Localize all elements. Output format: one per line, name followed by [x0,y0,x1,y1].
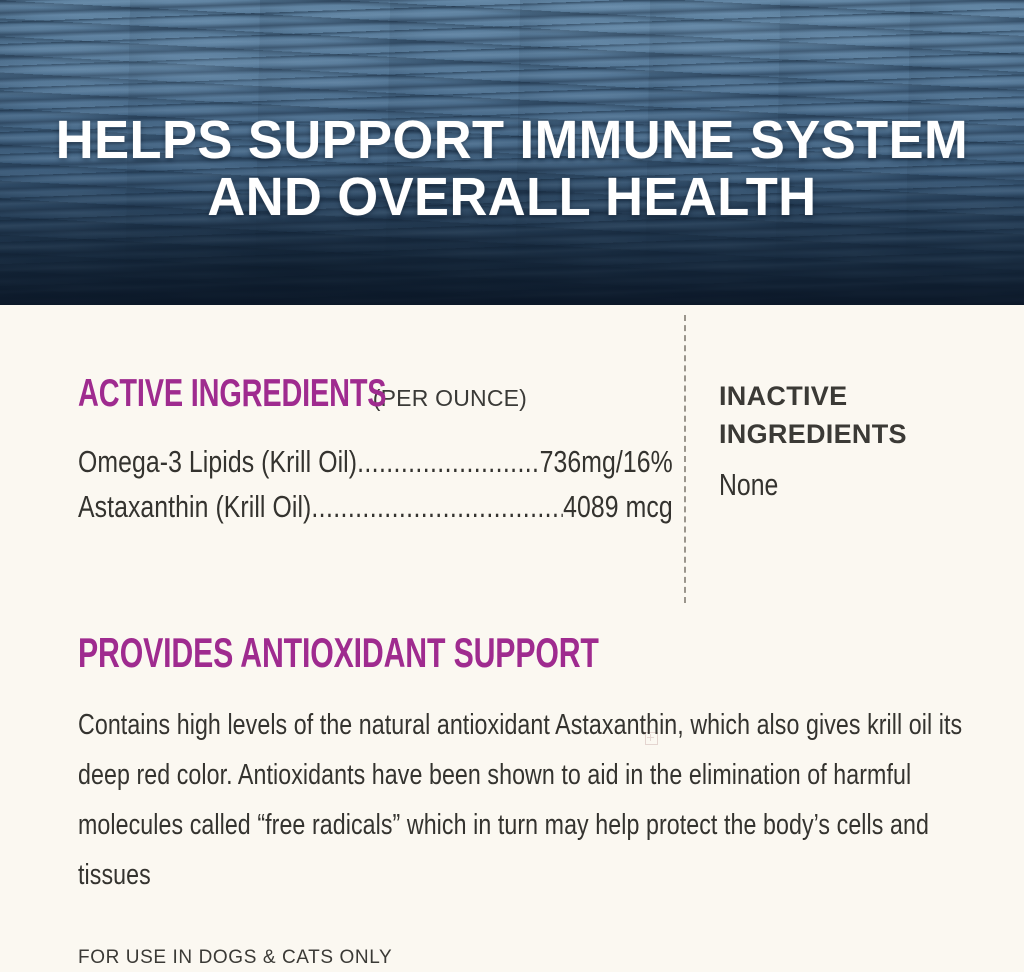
ingredient-row: Omega-3 Lipids (Krill Oil) .............… [78,439,673,484]
ingredient-row: Astaxanthin (Krill Oil) ................… [78,484,673,529]
antioxidant-support-body: Contains high levels of the natural anti… [78,700,978,900]
species-use-footnote: FOR USE IN DOGS & CATS ONLY [78,947,392,969]
hero-title: HELPS SUPPORT IMMUNE SYSTEM AND OVERALL … [15,112,1008,226]
ingredient-leader-dots: .................................... [311,484,563,529]
inactive-ingredients-heading: INACTIVE INGREDIENTS [719,377,979,453]
ingredient-amount: 4089 mcg [563,484,673,529]
active-ingredients-list: Omega-3 Lipids (Krill Oil) .............… [78,439,668,529]
per-ounce-qualifier: (PER OUNCE) [373,385,527,412]
ingredient-name: Astaxanthin (Krill Oil) [78,484,311,529]
active-ingredients-heading: ACTIVE INGREDIENTS [78,373,386,415]
ingredient-name: Omega-3 Lipids (Krill Oil) [78,439,357,484]
active-ingredients-section: ACTIVE INGREDIENTS (PER OUNCE) Omega-3 L… [78,373,668,529]
inactive-ingredients-section: INACTIVE INGREDIENTS None [719,377,979,503]
antioxidant-support-section: PROVIDES ANTIOXIDANT SUPPORT Contains hi… [78,630,978,929]
hero-banner: HELPS SUPPORT IMMUNE SYSTEM AND OVERALL … [0,0,1024,305]
antioxidant-support-heading: PROVIDES ANTIOXIDANT SUPPORT [78,630,599,676]
column-divider [684,315,686,603]
ingredient-leader-dots: .......................... [357,439,540,484]
ingredient-amount: 736mg/16% [540,439,673,484]
active-ingredients-heading-row: ACTIVE INGREDIENTS (PER OUNCE) [78,373,668,417]
inactive-ingredients-value: None [719,467,927,503]
supplement-facts-panel: ACTIVE INGREDIENTS (PER OUNCE) Omega-3 L… [0,305,1024,972]
